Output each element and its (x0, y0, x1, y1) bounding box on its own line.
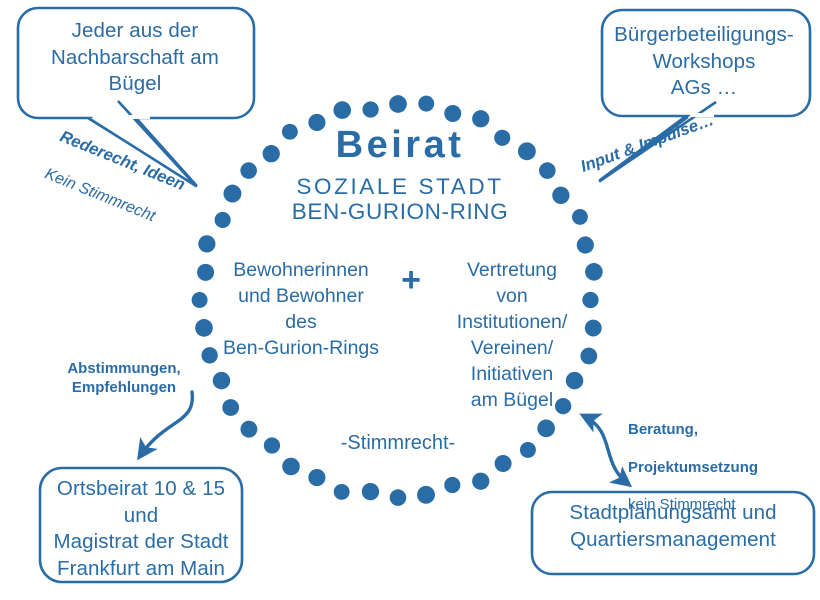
connector-label-beratung-line2: Projektumsetzung (628, 459, 808, 478)
page-subtitle-2: BEN-GURION-RING (230, 199, 570, 224)
ring-dot (334, 484, 350, 500)
center-title-block: Beirat SOZIALE STADT BEN-GURION-RING (230, 126, 570, 224)
ring-dot (472, 473, 489, 490)
arrow-ring-to-ortsbeirat (140, 392, 192, 456)
ring-dot (333, 101, 351, 119)
box-stadtplanungsamt-quartiersmanagement-label: Stadtplanungsamt und Quartiersmanagement (534, 500, 812, 553)
ring-dot (308, 469, 325, 486)
ring-dot (537, 420, 555, 438)
ring-dot (362, 101, 378, 117)
ring-dot (572, 209, 588, 225)
ring-dot (495, 455, 512, 472)
ring-dot (472, 110, 489, 127)
ring-dot (389, 95, 407, 113)
page-subtitle-1: SOZIALE STADT (230, 174, 570, 199)
diagram-canvas: Jeder aus der Nachbarschaft am Bügel Bür… (0, 0, 820, 600)
plus-icon: + (390, 258, 432, 296)
speech-bubble-top-left-label: Jeder aus der Nachbarschaft am Bügel (24, 18, 246, 98)
connector-label-abstimmungen-empfehlungen: Abstimmungen, Empfehlungen (44, 360, 204, 398)
ring-dot (418, 96, 434, 112)
ring-dot (577, 236, 594, 253)
ring-dot (417, 486, 435, 504)
ring-dot (282, 458, 300, 476)
page-title: Beirat (230, 126, 570, 166)
ring-dot (195, 319, 213, 337)
center-membership-columns: Bewohnerinnen und Bewohner des Ben-Gurio… (212, 258, 592, 414)
membership-column-residents: Bewohnerinnen und Bewohner des Ben-Gurio… (212, 258, 390, 362)
box-ortsbeirat-magistrat-label: Ortsbeirat 10 & 15 und Magistrat der Sta… (42, 476, 240, 583)
ring-dot (240, 421, 257, 438)
ring-dot (362, 483, 379, 500)
ring-dot (192, 292, 208, 308)
center-voting-rights-note: -Stimmrecht- (258, 432, 538, 455)
connector-label-beratung-line1: Beratung, (628, 421, 808, 440)
membership-column-institutions: Vertretung von Institutionen/ Vereinen/ … (432, 258, 592, 414)
arrow-ring-to-stadtplanungsamt (584, 416, 628, 484)
ring-dot (444, 477, 460, 493)
ring-dot (444, 105, 461, 122)
ring-dot (390, 489, 407, 506)
